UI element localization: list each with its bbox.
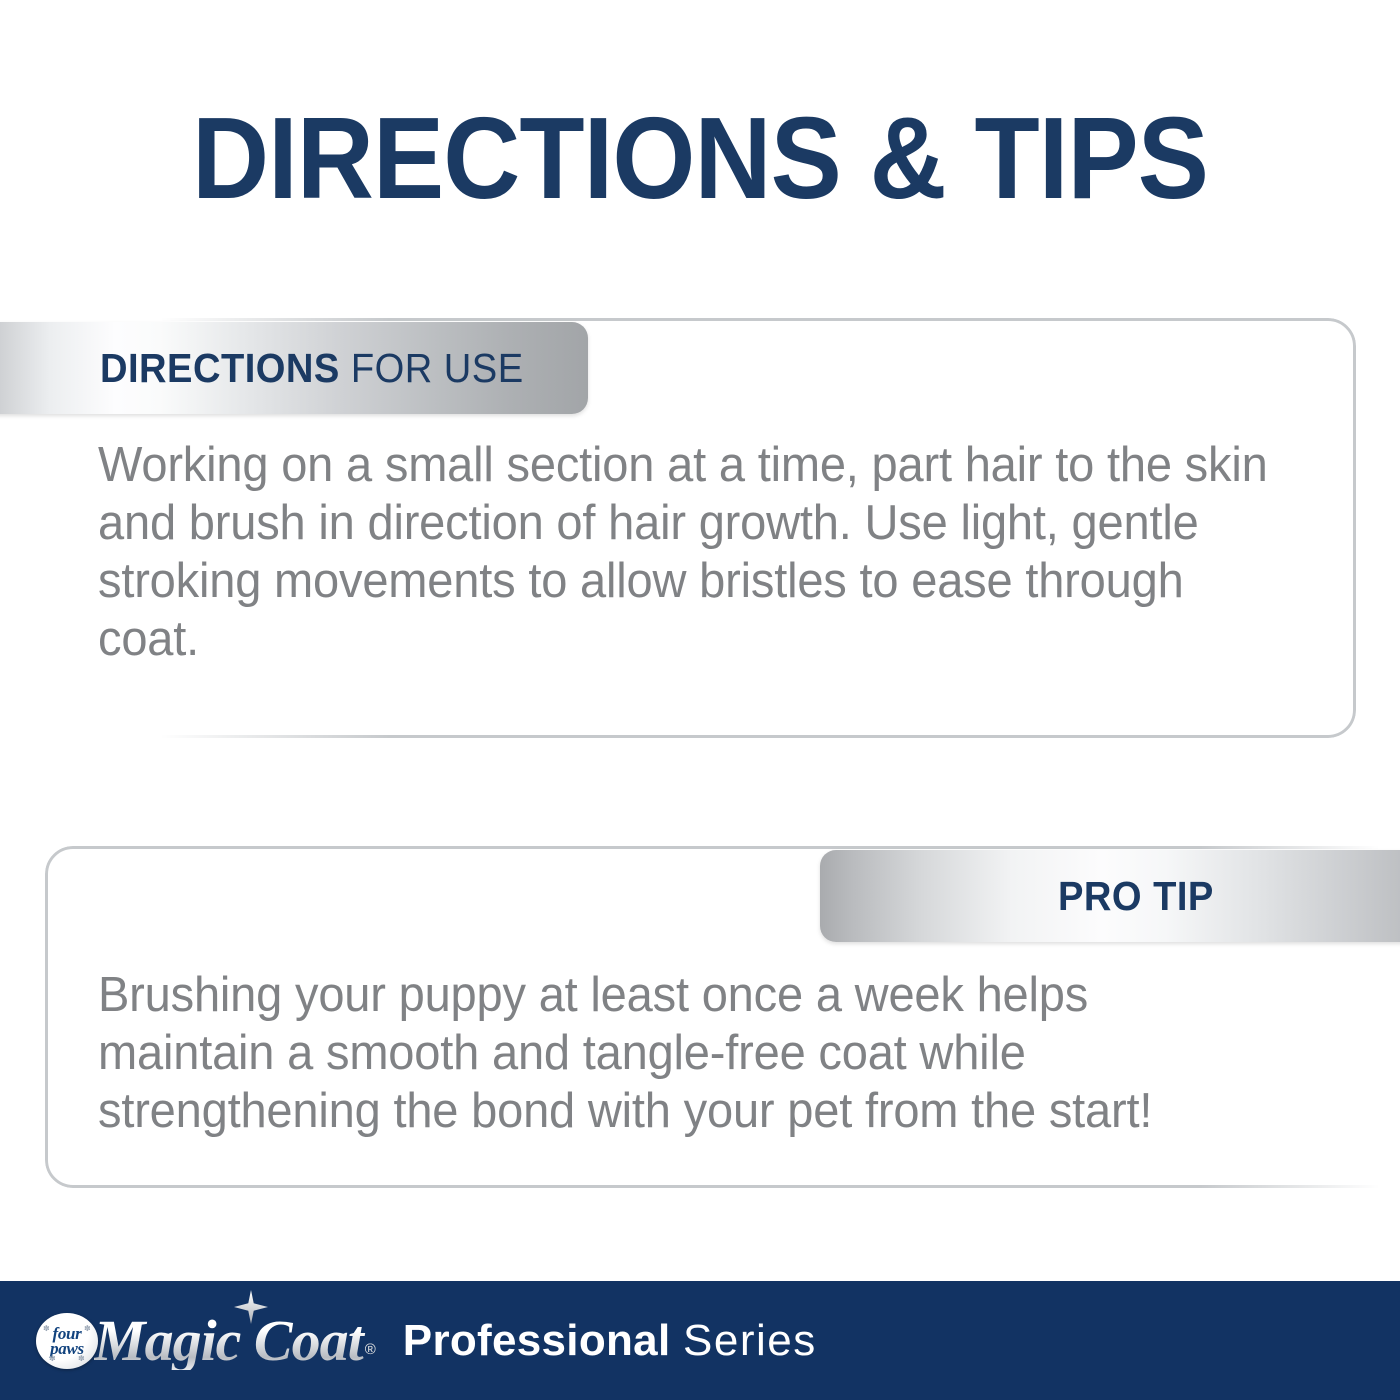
directions-body-text: Working on a small section at a time, pa… [98,436,1279,668]
directions-banner-label: DIRECTIONS FOR USE [100,348,524,389]
protip-body-text: Brushing your puppy at least once a week… [98,966,1231,1140]
poster-page: DIRECTIONS & TIPS DIRECTIONS FOR USE Wor… [0,0,1400,1400]
directions-banner-strong: DIRECTIONS [100,345,340,391]
paw-print-icon: ✽ [49,1355,56,1362]
page-title: DIRECTIONS & TIPS [56,98,1344,220]
paw-print-icon: ✽ [84,1325,91,1332]
four-paws-logo-icon: ✽ ✽ ✽ ✽ four paws [36,1313,98,1369]
magic-coat-wordmark: Magic Coat® [94,1312,379,1370]
series-label: Series [683,1316,817,1365]
paw-print-icon: ✽ [78,1355,85,1362]
protip-banner: PRO TIP [820,850,1400,942]
registered-trademark-icon: ® [365,1341,375,1358]
professional-series-wordmark: Professional Series [403,1319,817,1363]
protip-banner-strong: PRO TIP [1058,873,1214,919]
paw-print-icon: ✽ [43,1325,50,1332]
directions-banner: DIRECTIONS FOR USE [0,322,588,414]
professional-label: Professional [403,1316,671,1365]
directions-banner-light: FOR USE [340,345,524,391]
protip-banner-label: PRO TIP [1058,876,1214,917]
magic-coat-text: Magic Coat [94,1308,363,1373]
brand-lockup: ✽ ✽ ✽ ✽ four paws Magic Coat® [36,1281,817,1400]
brand-footer-bar: ✽ ✽ ✽ ✽ four paws Magic Coat® [0,1281,1400,1400]
